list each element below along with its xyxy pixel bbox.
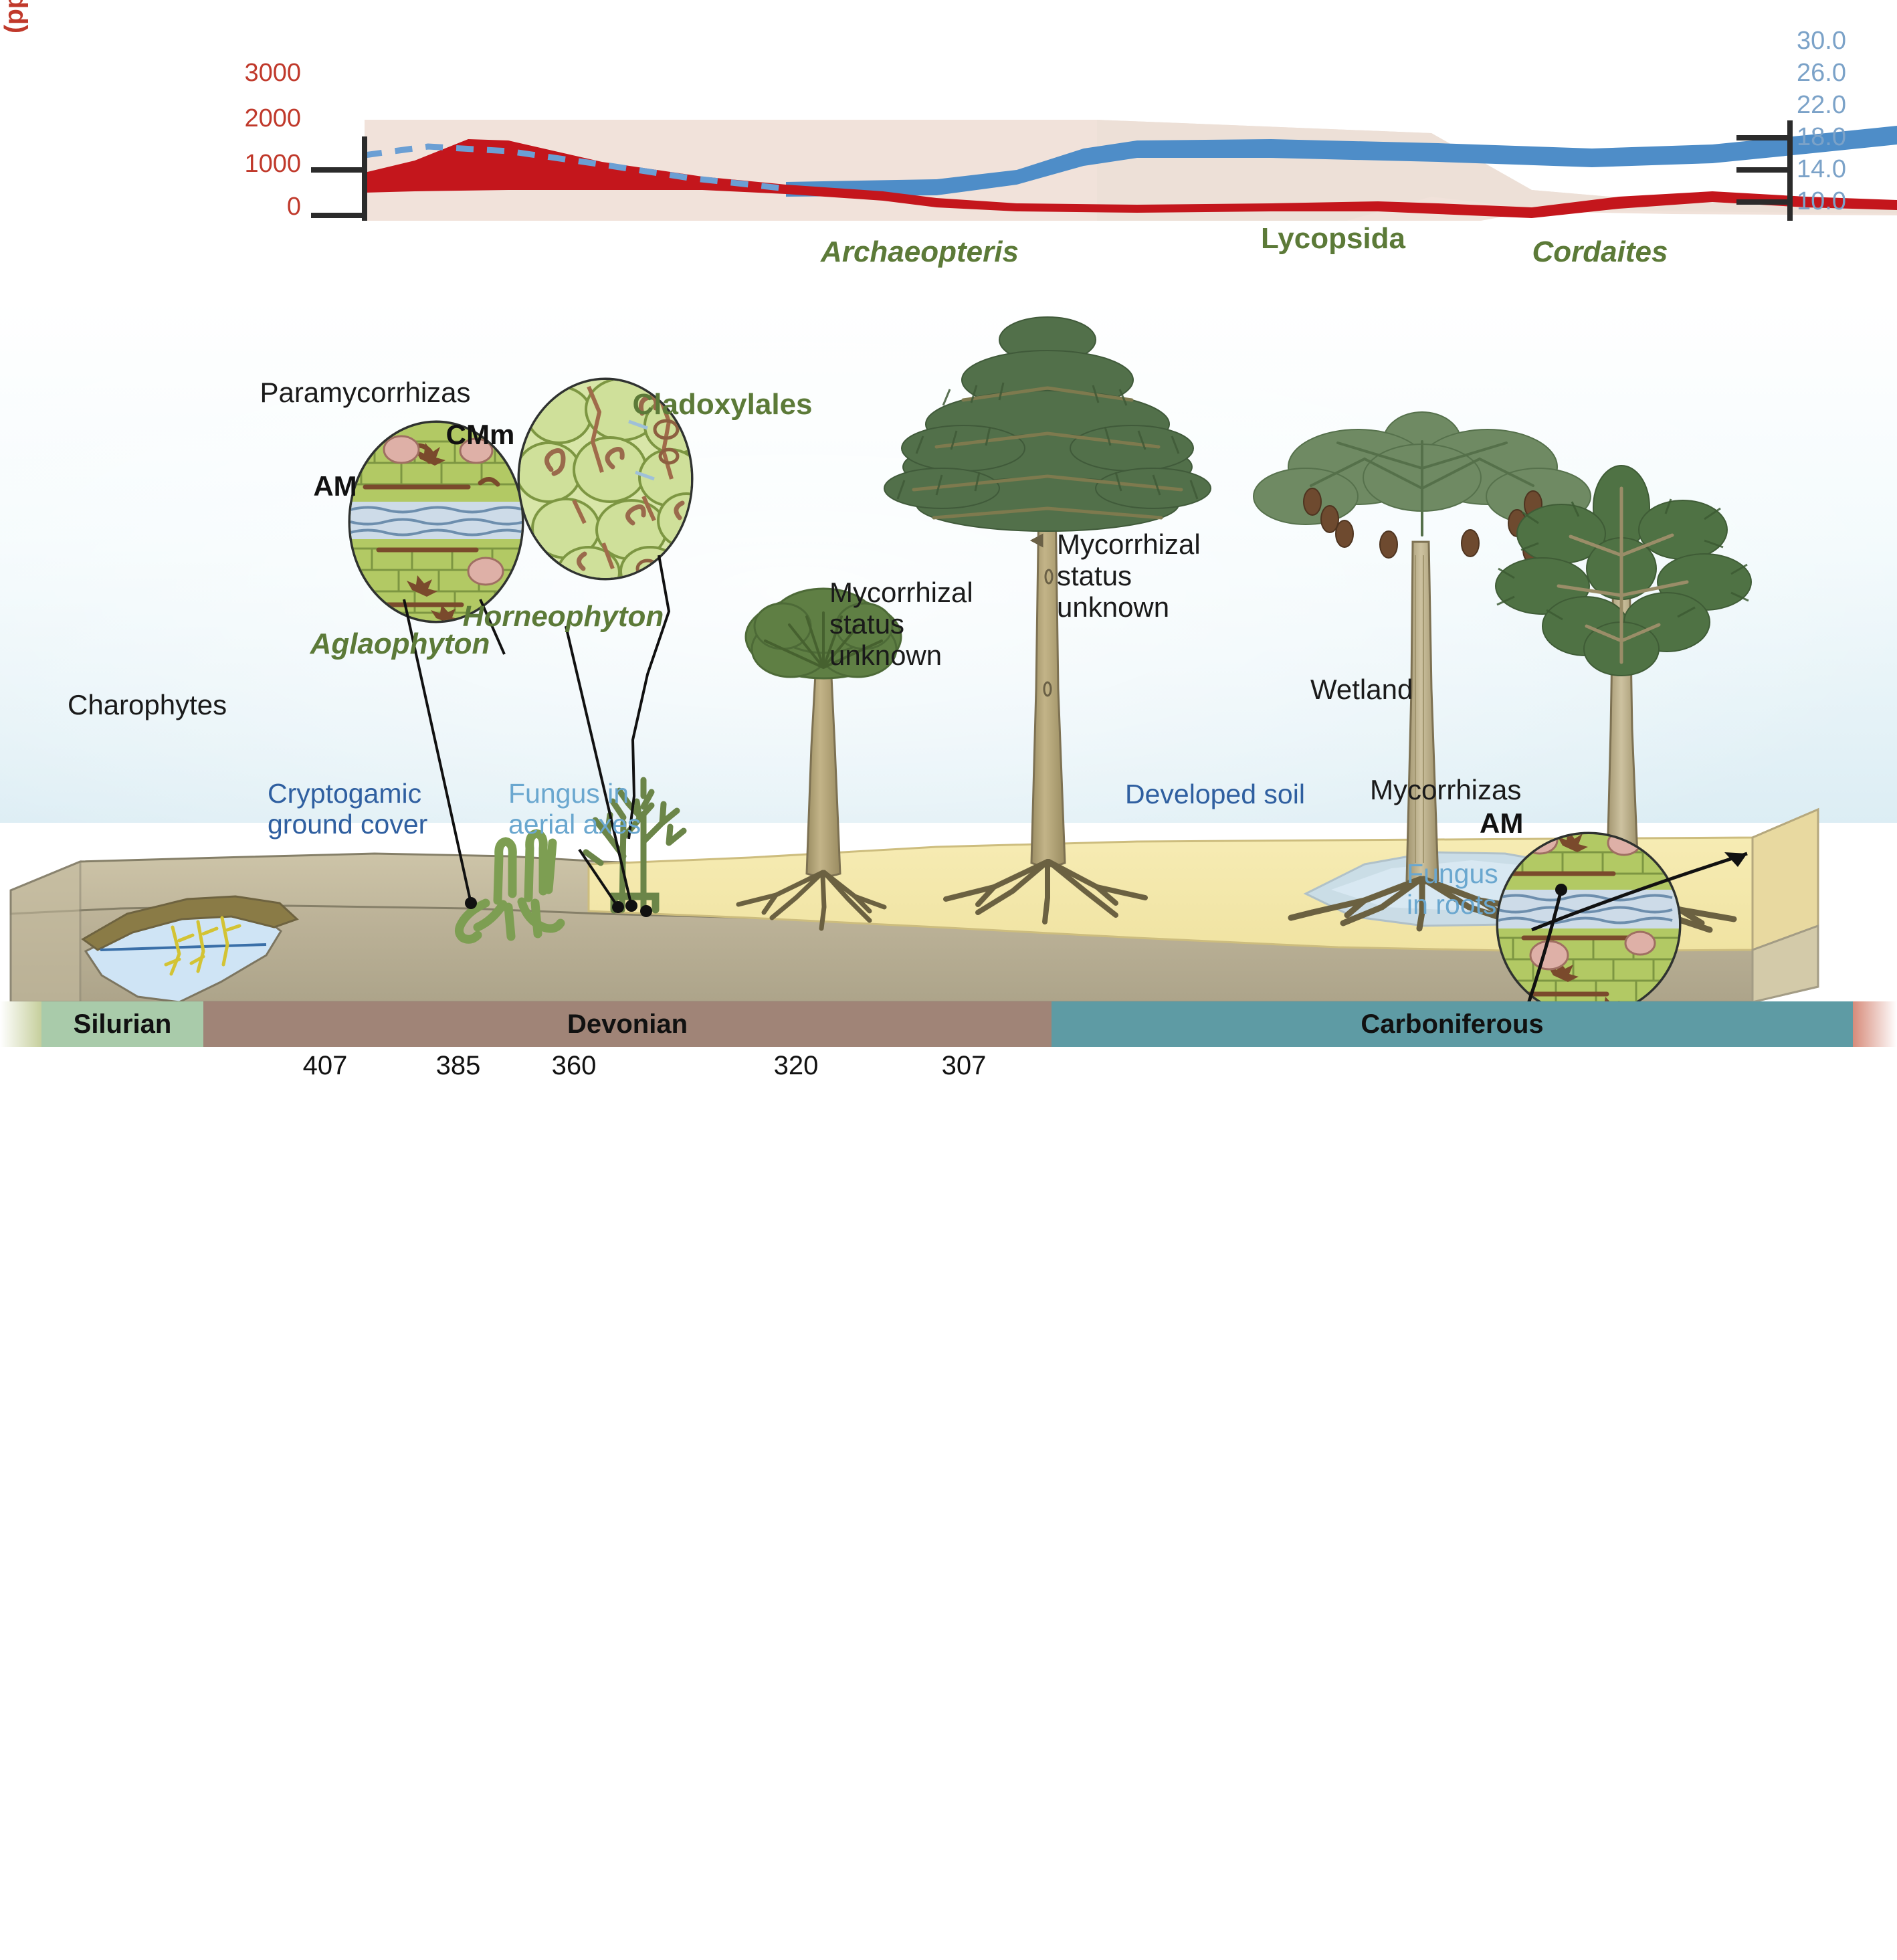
geological-timeline: Silurian Devonian Carboniferous 407 385 … xyxy=(0,1001,1897,1047)
timeline-age-307: 307 xyxy=(942,1051,987,1081)
right-tick-30: 30.0 xyxy=(1797,27,1846,56)
annotation-wetland: Wetland xyxy=(1310,674,1413,705)
timeline-era-devonian[interactable]: Devonian xyxy=(203,1001,1052,1047)
timeline-fade-left xyxy=(0,1001,41,1047)
timeline-era-carboniferous-label: Carboniferous xyxy=(1361,1009,1543,1040)
annotation-fungus-in-roots: Fungus in roots xyxy=(1407,859,1498,920)
left-tick-2000: 2000 xyxy=(201,104,301,133)
right-tick-22: 22.0 xyxy=(1797,91,1846,120)
annotation-paramycorrhizas: Paramycorrhizas xyxy=(260,377,470,408)
taxon-label-horneophyton: Horneophyton xyxy=(463,600,664,633)
taxon-label-aglaophyton: Aglaophyton xyxy=(310,627,490,660)
right-tick-18: 18.0 xyxy=(1797,123,1846,152)
right-tick-14: 14.0 xyxy=(1797,155,1846,184)
annotation-am-right: AM xyxy=(1480,807,1523,839)
taxon-label-lycopsida: Lycopsida xyxy=(1261,222,1405,255)
left-axis-units-text: (ppm) xyxy=(0,0,29,33)
taxon-label-cladoxylales: Cladoxylales xyxy=(632,388,812,421)
timeline-fade-right xyxy=(1853,1001,1897,1047)
status-label-cladoxylales: Mycorrhizal status unknown xyxy=(829,577,973,671)
annotation-am-left: AM xyxy=(313,470,357,502)
timeline-era-carboniferous[interactable]: Carboniferous xyxy=(1052,1001,1853,1047)
annotation-mycorrhizas: Mycorrhizas xyxy=(1370,774,1521,805)
timeline-era-silurian[interactable]: Silurian xyxy=(41,1001,203,1047)
co2-o2-chart: Atmospheric CO2 (ppm) 3000 2000 1000 0 3… xyxy=(0,0,1897,221)
left-tick-3000: 3000 xyxy=(201,59,301,88)
timeline-era-devonian-label: Devonian xyxy=(567,1009,688,1040)
status-label-archaeopteris: Mycorrhizal status unknown xyxy=(1057,528,1201,623)
taxon-label-cordaites: Cordaites xyxy=(1532,235,1668,268)
right-tick-26: 26.0 xyxy=(1797,59,1846,88)
left-tick-0: 0 xyxy=(201,193,301,221)
annotation-cryptogamic-ground-cover: Cryptogamic ground cover xyxy=(268,779,427,840)
timeline-age-360: 360 xyxy=(552,1051,597,1081)
figure-root: Atmospheric CO2 (ppm) 3000 2000 1000 0 3… xyxy=(0,0,1897,1101)
timeline-age-407: 407 xyxy=(303,1051,348,1081)
annotation-charophytes: Charophytes xyxy=(68,689,227,720)
taxon-label-archaeopteris: Archaeopteris xyxy=(821,235,1019,268)
annotation-developed-soil: Developed soil xyxy=(1125,779,1305,810)
right-tick-10: 10.0 xyxy=(1797,187,1846,216)
left-axis-title-units: (ppm) xyxy=(0,0,29,33)
annotation-cmm: CMm xyxy=(446,419,515,450)
timeline-age-320: 320 xyxy=(774,1051,819,1081)
timeline-age-385: 385 xyxy=(436,1051,481,1081)
annotation-fungus-in-aerial-axes: Fungus in aerial axes xyxy=(508,779,641,840)
left-tick-1000: 1000 xyxy=(201,150,301,179)
timeline-era-silurian-label: Silurian xyxy=(74,1009,172,1040)
